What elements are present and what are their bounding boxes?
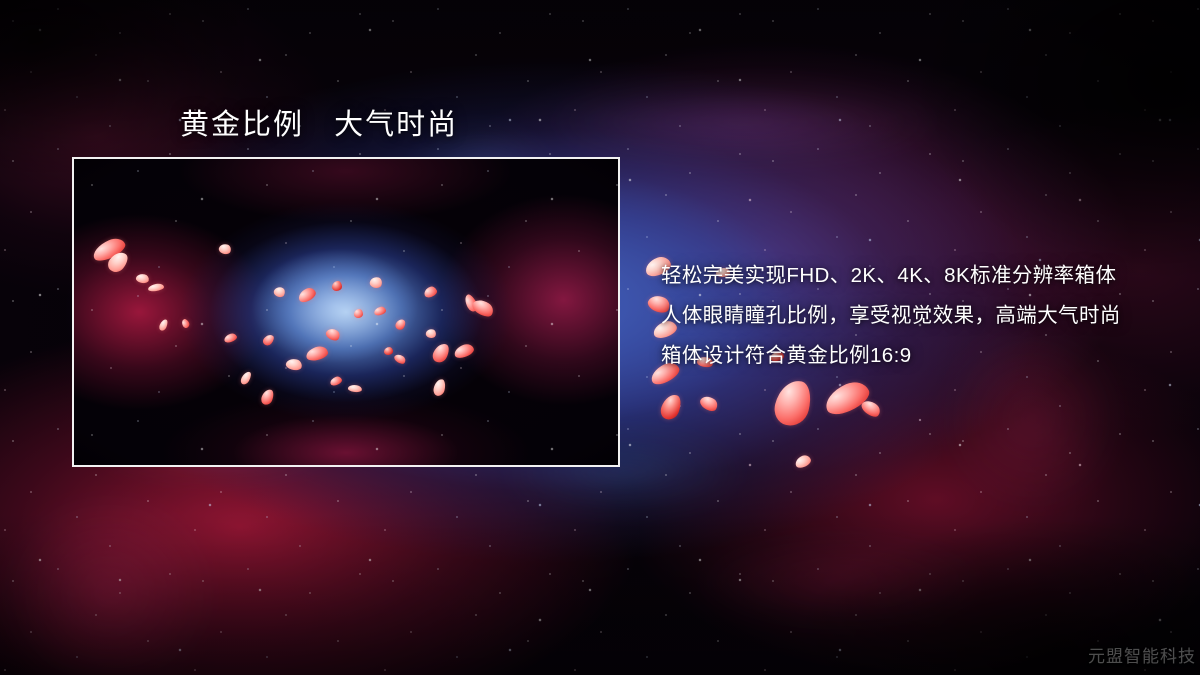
- panel-starfield: [74, 159, 618, 465]
- petal: [771, 377, 815, 430]
- slide-canvas: 黄金比例 大气时尚 轻松完美实现FHD、2K、4K、8K标准分辨率箱体 人体眼睛…: [0, 0, 1200, 675]
- body-line-1: 轻松完美实现FHD、2K、4K、8K标准分辨率箱体: [661, 256, 1181, 296]
- petal: [332, 281, 342, 291]
- framed-image-panel: [72, 157, 620, 467]
- page-title: 黄金比例 大气时尚: [180, 101, 458, 143]
- body-line-3: 箱体设计符合黄金比例16:9: [661, 336, 1181, 376]
- petal: [384, 347, 393, 355]
- petal: [794, 453, 813, 469]
- petal: [698, 393, 720, 414]
- petal: [658, 392, 684, 423]
- body-text-block: 轻松完美实现FHD、2K、4K、8K标准分辨率箱体 人体眼睛瞳孔比例，享受视觉效…: [661, 256, 1181, 376]
- watermark: 元盟智能科技: [1088, 642, 1196, 667]
- petal: [354, 309, 363, 318]
- body-line-2: 人体眼睛瞳孔比例，享受视觉效果，高端大气时尚: [661, 296, 1181, 336]
